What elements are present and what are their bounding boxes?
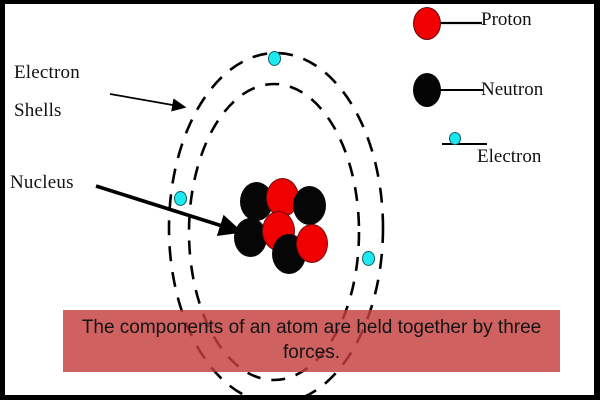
nucleon-neutron-3 [293, 186, 326, 225]
electron-right [362, 251, 375, 266]
nucleus-arrow [96, 186, 238, 231]
electron-shells-arrow [110, 94, 184, 107]
legend-proton-label: Proton [481, 9, 532, 31]
caption-banner: The components of an atom are held toget… [63, 310, 560, 372]
legend-electron-icon [449, 132, 461, 145]
atom-diagram-stage: Electron Shells Nucleus Proton Neutron E… [0, 0, 600, 400]
electron-top [268, 51, 281, 66]
legend-neutron-icon [413, 73, 441, 107]
legend-electron-label: Electron [477, 146, 541, 168]
nucleon-proton-7 [296, 224, 328, 263]
electron-shells-label-line1: Electron [14, 62, 80, 84]
electron-shells-label-line2: Shells [14, 100, 62, 122]
caption-banner-text: The components of an atom are held toget… [63, 316, 560, 365]
legend-proton-icon [413, 7, 441, 40]
electron-left [174, 191, 187, 206]
nucleus-label: Nucleus [10, 172, 74, 194]
legend-neutron-label: Neutron [481, 79, 543, 101]
